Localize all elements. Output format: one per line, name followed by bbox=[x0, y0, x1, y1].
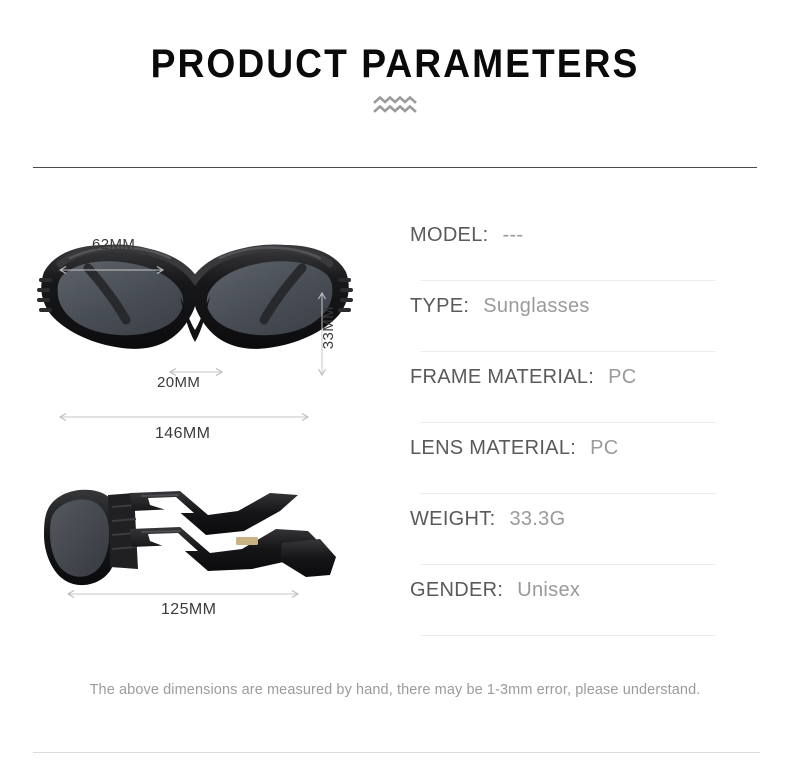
title-ornament bbox=[0, 96, 790, 118]
spec-label-lens-material: LENS MATERIAL: bbox=[410, 437, 576, 460]
specifications-list: MODEL: --- TYPE: Sunglasses FRAME MATERI… bbox=[410, 210, 740, 636]
footer-divider bbox=[33, 752, 760, 753]
spec-label-gender: GENDER: bbox=[410, 579, 503, 602]
spec-value-frame-material: PC bbox=[608, 366, 636, 389]
spec-row-model: MODEL: --- bbox=[410, 210, 740, 281]
dimension-label-temple-length: 125MM bbox=[161, 601, 216, 619]
spec-label-weight: WEIGHT: bbox=[410, 508, 495, 531]
spec-label-type: TYPE: bbox=[410, 295, 469, 318]
double-zigzag-ornament-icon bbox=[373, 96, 417, 118]
spec-row-type: TYPE: Sunglasses bbox=[410, 281, 740, 352]
product-parameters-page: PRODUCT PARAMETERS bbox=[0, 0, 790, 779]
spec-divider bbox=[420, 635, 716, 636]
spec-value-weight: 33.3G bbox=[509, 508, 565, 531]
spec-row-lens-material: LENS MATERIAL: PC bbox=[410, 423, 740, 494]
dimension-label-lens-height: 33MM bbox=[320, 306, 337, 349]
dimension-label-lens-width: 62MM bbox=[92, 236, 135, 253]
header-divider bbox=[33, 167, 757, 168]
page-title: PRODUCT PARAMETERS bbox=[28, 44, 763, 84]
spec-row-frame-material: FRAME MATERIAL: PC bbox=[410, 352, 740, 423]
spec-value-lens-material: PC bbox=[590, 437, 618, 460]
spec-row-gender: GENDER: Unisex bbox=[410, 565, 740, 636]
spec-label-frame-material: FRAME MATERIAL: bbox=[410, 366, 594, 389]
measurement-disclaimer: The above dimensions are measured by han… bbox=[0, 682, 790, 698]
dimension-label-bridge: 20MM bbox=[157, 374, 200, 391]
spec-value-model: --- bbox=[502, 224, 523, 247]
spec-label-model: MODEL: bbox=[410, 224, 488, 247]
spec-value-type: Sunglasses bbox=[483, 295, 589, 318]
spec-value-gender: Unisex bbox=[517, 579, 580, 602]
dimension-label-total-width: 146MM bbox=[155, 425, 210, 443]
spec-row-weight: WEIGHT: 33.3G bbox=[410, 494, 740, 565]
